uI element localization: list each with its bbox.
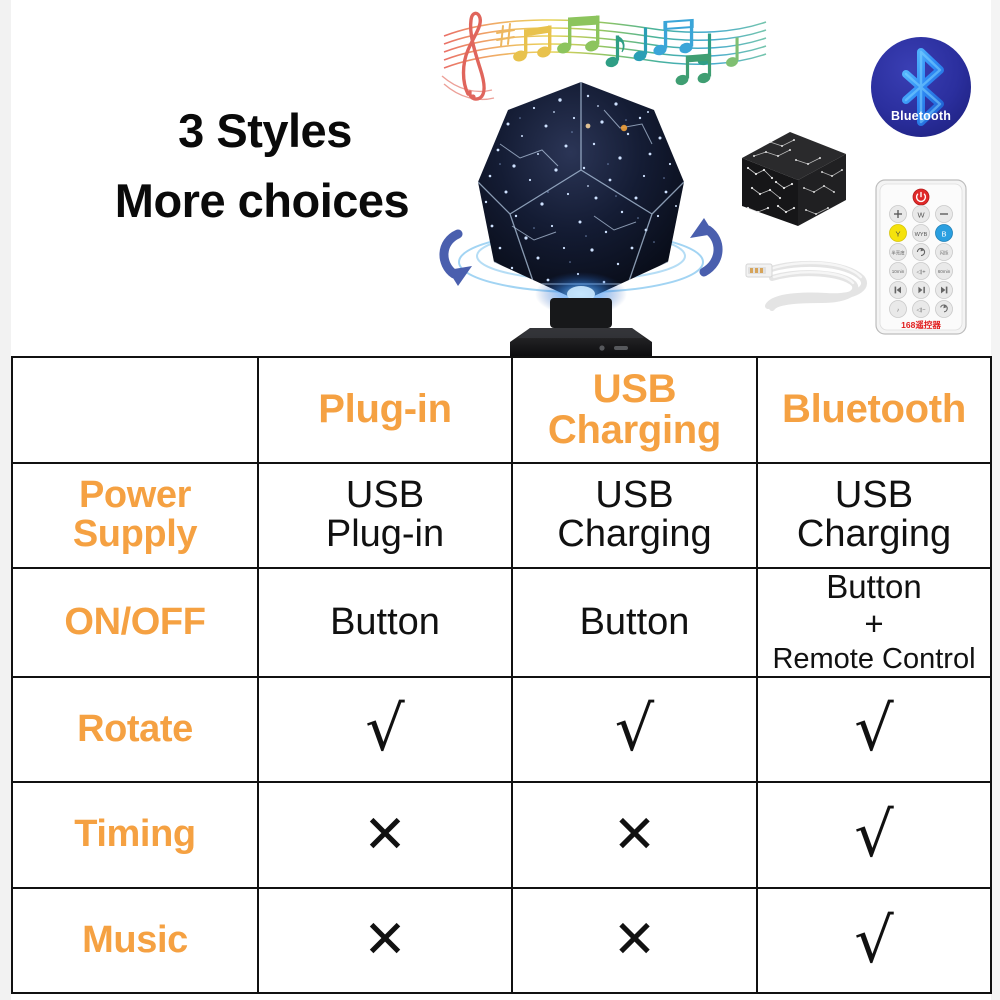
cell-onoff-bt-line-2: +	[762, 606, 986, 643]
left-edge-strip	[0, 0, 11, 1000]
cell-power-plugin: USB Plug-in	[258, 463, 512, 569]
cell-timing-plugin: ✕	[258, 782, 512, 888]
header-usb-line-2: Charging	[517, 410, 752, 451]
header-usb-line-1: USB	[517, 369, 752, 410]
comparison-table: Plug-in USB Charging Bluetooth Power	[11, 356, 992, 994]
table-row-on-off: ON/OFF Button Button Button + Remote Con…	[12, 568, 991, 676]
cell-onoff-bt-line-3: Remote Control	[762, 643, 986, 675]
table-row-timing: Timing ✕ ✕ √	[12, 782, 991, 888]
cell-onoff-bt-line-1: Button	[762, 569, 986, 606]
check-icon: √	[762, 701, 986, 757]
cell-onoff-bluetooth: Button + Remote Control	[757, 568, 991, 676]
cell-power-usb: USB Charging	[512, 463, 757, 569]
row-label-power-line-2: Supply	[17, 515, 253, 555]
row-label-music-text: Music	[17, 921, 253, 961]
headline-line-2: More choices	[52, 166, 472, 236]
header-cell-usb-charging: USB Charging	[512, 357, 757, 463]
row-label-music: Music	[12, 888, 258, 994]
header-plugin-label: Plug-in	[263, 389, 507, 430]
row-label-on-off: ON/OFF	[12, 568, 258, 676]
header-corner-cell	[12, 357, 258, 463]
cross-icon: ✕	[517, 917, 752, 964]
remote-model-caption: 168遥控器	[872, 319, 970, 331]
headline-line-1: 3 Styles	[52, 96, 472, 166]
cross-icon: ✕	[263, 812, 507, 859]
cell-rotate-bluetooth: √	[757, 677, 991, 783]
table-row-music: Music ✕ ✕ √	[12, 888, 991, 994]
cell-onoff-usb: Button	[512, 568, 757, 676]
bluetooth-badge-label: Bluetooth	[868, 109, 974, 123]
rotate-arrow-left-icon	[444, 234, 472, 286]
cell-timing-bluetooth: √	[757, 782, 991, 888]
check-icon: √	[762, 807, 986, 863]
star-projector-lamp-image	[438, 66, 724, 358]
row-label-timing-text: Timing	[17, 815, 253, 855]
remote-control-caption-wrap: 168遥控器	[872, 178, 970, 336]
header-usb-charging-label: USB Charging	[517, 369, 752, 451]
cell-music-plugin: ✕	[258, 888, 512, 994]
headline: 3 Styles More choices	[52, 96, 472, 235]
cell-power-usb-line-2: Charging	[517, 515, 752, 555]
row-label-on-off-text: ON/OFF	[17, 603, 253, 643]
table-row-rotate: Rotate √ √ √	[12, 677, 991, 783]
check-icon: √	[762, 913, 986, 969]
rotate-arrow-right-icon	[690, 218, 718, 272]
cell-music-bluetooth: √	[757, 888, 991, 994]
cross-icon: ✕	[517, 812, 752, 859]
table-row-power-supply: Power Supply USB Plug-in USB Charging	[12, 463, 991, 569]
row-label-rotate-text: Rotate	[17, 710, 253, 750]
cell-onoff-plugin: Button	[258, 568, 512, 676]
check-icon: √	[263, 701, 507, 757]
cell-onoff-usb-text: Button	[517, 603, 752, 643]
cell-power-plugin-line-1: USB	[263, 476, 507, 516]
bluetooth-badge-label-wrap: Bluetooth	[868, 34, 974, 140]
cell-power-usb-line-1: USB	[517, 476, 752, 516]
cell-music-usb: ✕	[512, 888, 757, 994]
check-icon: √	[517, 701, 752, 757]
row-label-rotate: Rotate	[12, 677, 258, 783]
header-cell-plugin: Plug-in	[258, 357, 512, 463]
product-comparison-infographic: 3 Styles More choices	[0, 0, 1000, 1000]
cell-rotate-plugin: √	[258, 677, 512, 783]
cell-power-bt-line-2: Charging	[762, 515, 986, 555]
cell-rotate-usb: √	[512, 677, 757, 783]
cross-icon: ✕	[263, 917, 507, 964]
constellation-gift-box-image	[734, 122, 852, 234]
row-label-timing: Timing	[12, 782, 258, 888]
cell-onoff-plugin-text: Button	[263, 603, 507, 643]
cell-power-bluetooth: USB Charging	[757, 463, 991, 569]
cell-power-bt-line-1: USB	[762, 476, 986, 516]
row-label-power-supply: Power Supply	[12, 463, 258, 569]
header-bluetooth-label: Bluetooth	[762, 389, 986, 430]
header-cell-bluetooth: Bluetooth	[757, 357, 991, 463]
cell-timing-usb: ✕	[512, 782, 757, 888]
right-edge-strip	[991, 0, 1000, 1000]
usb-cable-image	[742, 244, 872, 318]
cell-power-plugin-line-2: Plug-in	[263, 515, 507, 555]
table-header-row: Plug-in USB Charging Bluetooth	[12, 357, 991, 463]
row-label-power-line-1: Power	[17, 476, 253, 516]
